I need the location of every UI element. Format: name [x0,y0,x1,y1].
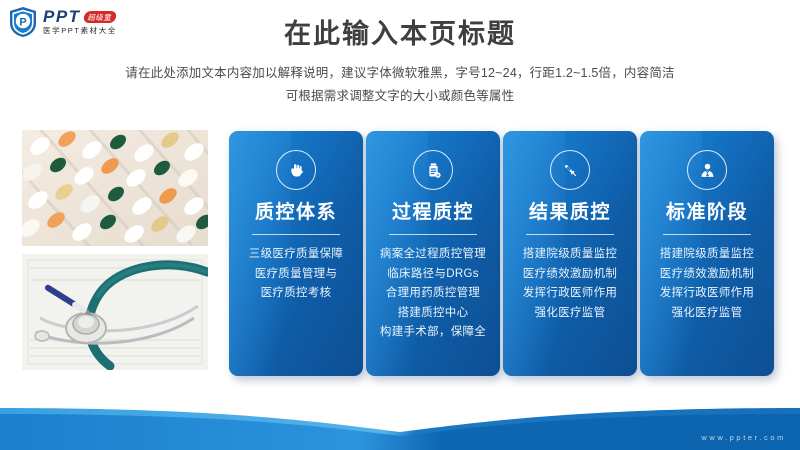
pills-photo [22,130,208,246]
card-line: 医疗质量管理与 [229,265,363,285]
card-title: 标准阶段 [640,201,774,225]
card-line: 强化医疗监管 [503,304,637,324]
card-title: 过程质控 [366,201,500,225]
card-body: 三级医疗质量保障 医疗质量管理与 医疗质控考核 [229,245,363,304]
syringe-icon [550,150,590,190]
card-line: 搭建质控中心 [366,304,500,324]
card-body: 搭建院级质量监控 医疗绩效激励机制 发挥行政医师作用 强化医疗监管 [640,245,774,323]
card-body: 搭建院级质量监控 医疗绩效激励机制 发挥行政医师作用 强化医疗监管 [503,245,637,323]
page-subtitle: 请在此处添加文本内容加以解释说明，建议字体微软雅黑，字号12~24，行距1.2~… [0,62,800,108]
card-line: 构建手术部，保障全 [366,323,500,343]
info-card-3[interactable]: 结果质控 搭建院级质量监控 医疗绩效激励机制 发挥行政医师作用 强化医疗监管 [503,131,637,376]
doctor-person-icon [687,150,727,190]
card-divider [663,234,751,235]
card-line: 病案全过程质控管理 [366,245,500,265]
card-divider [526,234,614,235]
stethoscope-photo [22,254,208,370]
card-line: 医疗质控考核 [229,284,363,304]
card-line: 强化医疗监管 [640,304,774,324]
card-line: 发挥行政医师作用 [640,284,774,304]
card-line: 发挥行政医师作用 [503,284,637,304]
medicine-bottle-icon [413,150,453,190]
card-line: 临床路径与DRGs [366,265,500,285]
card-divider [252,234,340,235]
card-line: 搭建院级质量监控 [503,245,637,265]
hand-glove-icon [276,150,316,190]
card-title: 结果质控 [503,201,637,225]
card-line: 三级医疗质量保障 [229,245,363,265]
footer-url: www.ppter.com [701,433,786,443]
card-divider [389,234,477,235]
subtitle-line-2: 可根据需求调整文字的大小或颜色等属性 [0,85,800,108]
page-title: 在此输入本页标题 [0,18,800,50]
card-body: 病案全过程质控管理 临床路径与DRGs 合理用药质控管理 搭建质控中心 构建手术… [366,245,500,343]
card-line: 合理用药质控管理 [366,284,500,304]
footer-wave-decoration [0,404,800,450]
subtitle-line-1: 请在此处添加文本内容加以解释说明，建议字体微软雅黑，字号12~24，行距1.2~… [0,62,800,85]
card-line: 搭建院级质量监控 [640,245,774,265]
info-card-4[interactable]: 标准阶段 搭建院级质量监控 医疗绩效激励机制 发挥行政医师作用 强化医疗监管 [640,131,774,376]
card-title: 质控体系 [229,201,363,225]
card-line: 医疗绩效激励机制 [503,265,637,285]
info-card-1[interactable]: 质控体系 三级医疗质量保障 医疗质量管理与 医疗质控考核 [229,131,363,376]
info-card-2[interactable]: 过程质控 病案全过程质控管理 临床路径与DRGs 合理用药质控管理 搭建质控中心… [366,131,500,376]
card-line: 医疗绩效激励机制 [640,265,774,285]
